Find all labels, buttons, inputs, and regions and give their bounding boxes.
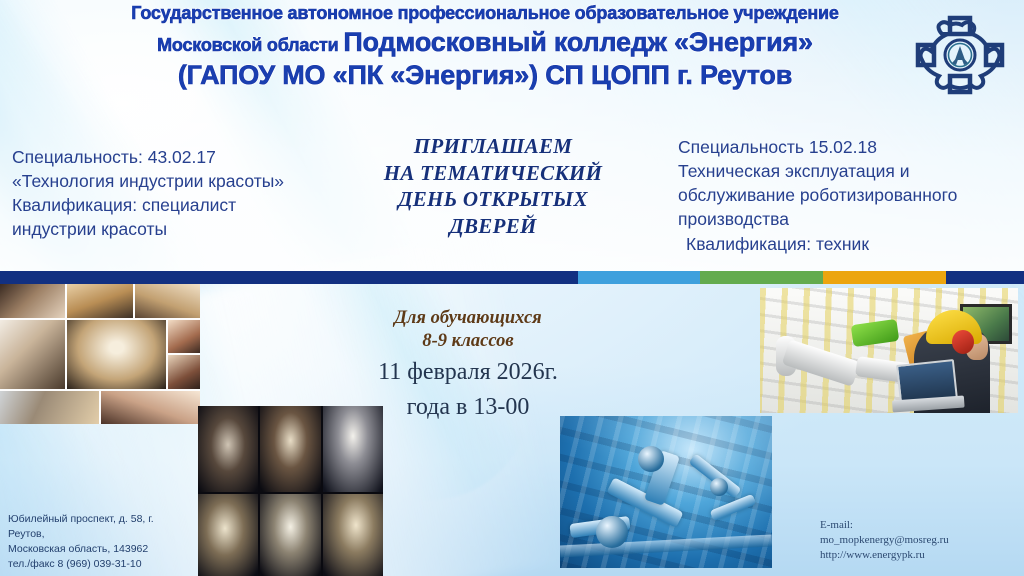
stripe-segment-blue	[578, 271, 700, 284]
specialty-left-code: Специальность: 43.02.17	[12, 145, 352, 169]
collage-photo	[0, 284, 65, 318]
address-line3: Московская область, 143962	[8, 542, 238, 557]
invitation-line3: ДЕНЬ ОТКРЫТЫХ	[370, 186, 616, 213]
beauty-hairdressing-collage	[0, 284, 200, 424]
college-name: Подмосковный колледж «Энергия»	[343, 27, 813, 57]
institution-title-line2: Московской области Подмосковный колледж …	[70, 28, 900, 57]
invitation-line1: ПРИГЛАШАЕМ	[370, 133, 616, 160]
red-ear-protection	[952, 330, 974, 354]
collage-photo	[67, 320, 166, 389]
institution-title-line3: (ГАПОУ МО «ПК «Энергия») СП ЦОПП г. Реут…	[70, 61, 900, 90]
invitation-line4: ДВЕРЕЙ	[370, 213, 616, 240]
specialty-right-name: Техническая эксплуатация и	[678, 159, 1018, 183]
contacts-block: E-mail: mo_mopkenergy@mosreg.ru http://w…	[820, 518, 1010, 564]
collage-photo	[67, 284, 132, 318]
specialty-left-block: Специальность: 43.02.17 «Технология инду…	[12, 145, 352, 242]
collage-photo	[260, 494, 320, 576]
event-details-block: Для обучающихся 8-9 классов 11 февраля 2…	[355, 307, 581, 422]
event-time: года в 13-00	[355, 393, 581, 422]
specialty-left-qualification-cont: индустрии красоты	[12, 217, 352, 241]
poster-root: Государственное автономное профессиональ…	[0, 0, 1024, 576]
invitation-block: ПРИГЛАШАЕМ НА ТЕМАТИЧЕСКИЙ ДЕНЬ ОТКРЫТЫХ…	[370, 133, 616, 240]
audience-line2: 8-9 классов	[355, 330, 581, 353]
collage-photo	[323, 494, 383, 576]
collage-photo	[198, 406, 258, 492]
college-gear-logo-icon	[912, 4, 1008, 106]
event-date: 11 февраля 2026г.	[355, 358, 581, 387]
robot-arm	[710, 494, 757, 521]
color-stripe-divider	[0, 271, 1024, 284]
specialty-right-name-cont: обслуживание роботизированного	[678, 183, 1018, 207]
specialty-right-code: Специальность 15.02.18	[678, 135, 1018, 159]
robotic-factory-photo	[560, 416, 772, 568]
collage-photo	[101, 391, 200, 425]
poster-header: Государственное автономное профессиональ…	[0, 0, 1024, 112]
specialty-left-name: «Технология индустрии красоты»	[12, 169, 352, 193]
laptop	[896, 359, 958, 405]
invitation-line2: НА ТЕМАТИЧЕСКИЙ	[370, 160, 616, 187]
robot-joint	[638, 446, 664, 472]
email-label: E-mail:	[820, 518, 1010, 533]
institution-title: Государственное автономное профессиональ…	[70, 4, 900, 89]
audience-line1: Для обучающихся	[355, 307, 581, 330]
stripe-segment-orange	[823, 271, 946, 284]
stripe-segment-green	[700, 271, 823, 284]
industrial-robotics-worker-photo	[760, 288, 1018, 413]
collage-photo	[168, 320, 200, 354]
collage-photo	[135, 284, 200, 318]
collage-photo	[260, 406, 320, 492]
collage-photo	[0, 320, 65, 389]
address-line2: Реутов,	[8, 527, 238, 542]
specialty-left-qualification: Квалификация: специалист	[12, 193, 352, 217]
robot-joint	[596, 516, 628, 548]
institution-title-line1: Государственное автономное профессиональ…	[70, 4, 900, 23]
stripe-segment-navy	[0, 271, 578, 284]
collage-photo	[168, 355, 200, 389]
specialty-right-block: Специальность 15.02.18 Техническая экспл…	[678, 135, 1018, 256]
institution-region: Московской области	[157, 35, 343, 55]
address-phone: тел./факс 8 (969) 039-31-10	[8, 557, 238, 572]
address-block: Юбилейный проспект, д. 58, г. Реутов, Мо…	[8, 512, 238, 572]
address-line1: Юбилейный проспект, д. 58, г.	[8, 512, 238, 527]
robot-joint	[710, 478, 728, 496]
email-address[interactable]: mo_mopkenergy@mosreg.ru	[820, 533, 1010, 548]
collage-photo	[0, 391, 99, 425]
specialty-right-name-cont2: производства	[678, 207, 1018, 231]
website-url[interactable]: http://www.energypk.ru	[820, 548, 1010, 563]
stripe-segment-navy-end	[946, 271, 1024, 284]
specialty-right-qualification: Квалификация: техник	[678, 232, 1018, 256]
factory-rail	[560, 534, 772, 557]
